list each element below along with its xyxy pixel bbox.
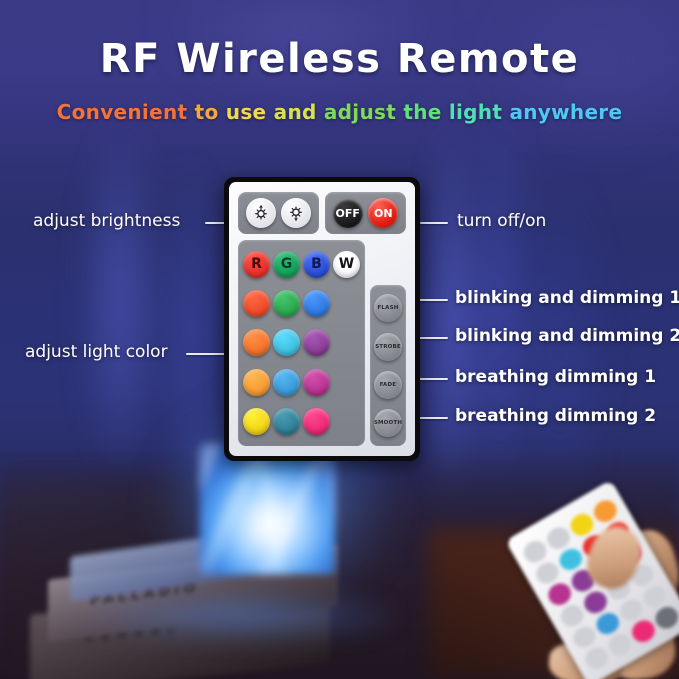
infographic-canvas: CEREAL PALLADIO RF Wireless Remote Conve… <box>0 0 679 679</box>
subtitle-word-0: Convenient <box>57 100 195 124</box>
remote-body: OFF ON RGBW FLASHSTROBEFADESMOOTH <box>229 182 415 456</box>
subtitle-word-3: and <box>274 100 324 124</box>
color-button-b[interactable]: B <box>303 251 330 278</box>
sun-down-icon <box>287 204 305 222</box>
color-button-r3c0[interactable] <box>243 369 270 396</box>
hand-holding-remote <box>505 510 679 679</box>
leader-line-adjust-light-color <box>186 353 228 355</box>
mini-remote-button <box>605 630 635 659</box>
color-button-r2c2[interactable] <box>303 329 330 356</box>
desk-blue-reflection <box>60 591 390 641</box>
color-button-r2c1[interactable] <box>273 329 300 356</box>
page-title: RF Wireless Remote <box>0 36 679 82</box>
mode-button-flash[interactable]: FLASH <box>374 294 402 322</box>
page-subtitle: Convenient to use and adjust the light a… <box>0 100 679 124</box>
color-button-r4c0[interactable] <box>243 408 270 435</box>
color-button-r[interactable]: R <box>243 251 270 278</box>
mode-button-strobe[interactable]: STROBE <box>374 333 402 361</box>
color-button-grid: RGBW <box>238 240 365 446</box>
callout-blinking-dimming-1: blinking and dimming 1 <box>455 288 679 308</box>
mode-button-fade[interactable]: FADE <box>374 371 402 399</box>
remote-main-area: RGBW FLASHSTROBEFADESMOOTH <box>238 240 406 446</box>
subtitle-word-6: light <box>449 100 510 124</box>
remote-power-row: OFF ON <box>238 192 406 234</box>
off-button[interactable]: OFF <box>333 198 363 228</box>
color-button-r1c2[interactable] <box>303 290 330 317</box>
mini-remote-button <box>582 644 612 673</box>
color-button-r4c1[interactable] <box>273 408 300 435</box>
color-button-r1c0[interactable] <box>243 290 270 317</box>
power-group: OFF ON <box>325 192 406 234</box>
brightness-up-button[interactable] <box>246 198 276 228</box>
sun-up-icon <box>252 204 270 222</box>
brightness-group <box>238 192 319 234</box>
product-photo: CEREAL PALLADIO <box>0 439 450 679</box>
brightness-down-button[interactable] <box>281 198 311 228</box>
mini-remote-button <box>652 603 679 632</box>
color-button-r1c1[interactable] <box>273 290 300 317</box>
callout-breathing-dimming-2: breathing dimming 2 <box>455 406 656 426</box>
leader-line-turn-off-on <box>420 222 448 224</box>
callout-turn-off-on: turn off/on <box>457 211 546 231</box>
color-button-r2c0[interactable] <box>243 329 270 356</box>
color-button-g[interactable]: G <box>273 251 300 278</box>
rf-remote-control: OFF ON RGBW FLASHSTROBEFADESMOOTH <box>224 177 420 461</box>
callout-adjust-light-color: adjust light color <box>25 342 168 362</box>
crystal-lamp-facets <box>200 444 335 574</box>
mode-button-smooth[interactable]: SMOOTH <box>374 409 402 437</box>
subtitle-word-5: the <box>403 100 449 124</box>
subtitle-word-1: to <box>195 100 226 124</box>
on-button[interactable]: ON <box>368 198 398 228</box>
mode-button-column: FLASHSTROBEFADESMOOTH <box>370 285 406 446</box>
subtitle-word-2: use <box>226 100 274 124</box>
callout-breathing-dimming-1: breathing dimming 1 <box>455 367 656 387</box>
color-button-r3c2[interactable] <box>303 369 330 396</box>
color-button-w[interactable]: W <box>333 251 360 278</box>
subtitle-word-7: anywhere <box>509 100 622 124</box>
color-button-r4c2[interactable] <box>303 408 330 435</box>
callout-adjust-brightness: adjust brightness <box>33 211 180 231</box>
mini-remote-button <box>628 617 658 646</box>
subtitle-word-4: adjust <box>324 100 403 124</box>
color-button-r3c1[interactable] <box>273 369 300 396</box>
callout-blinking-dimming-2: blinking and dimming 2 <box>455 326 679 346</box>
